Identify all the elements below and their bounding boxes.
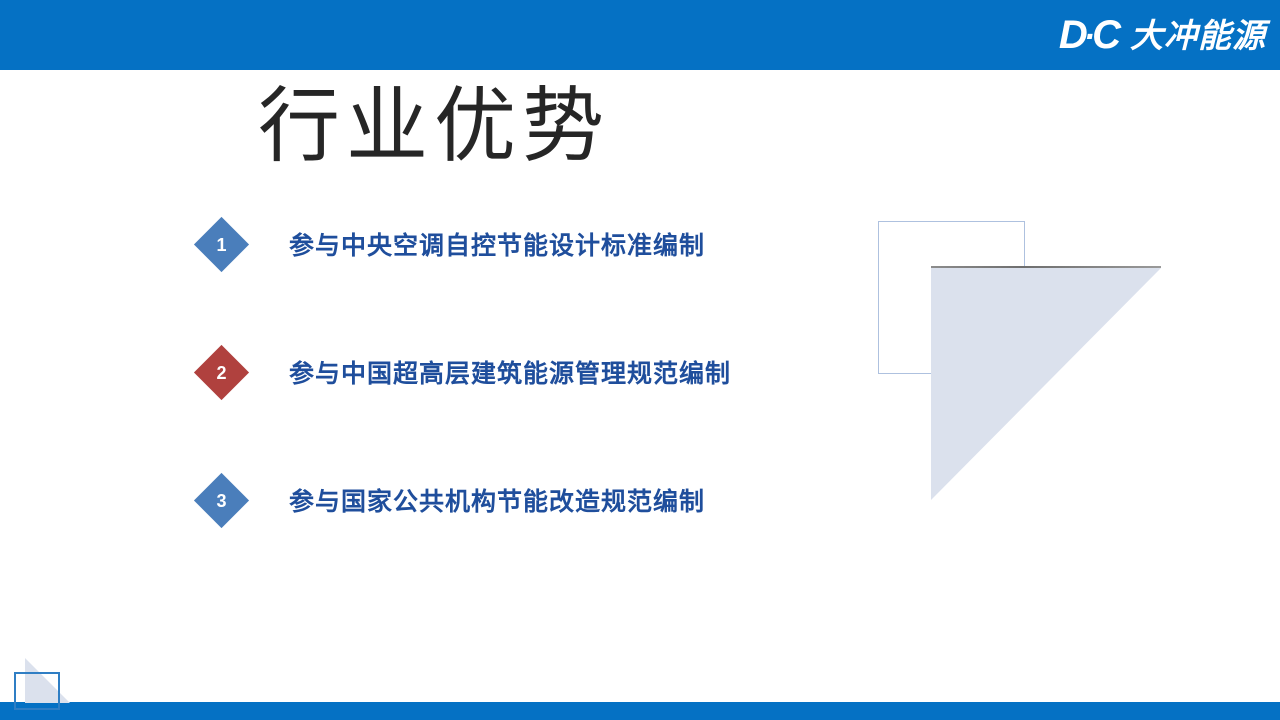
- bullet-diamond-3: 3: [194, 472, 249, 527]
- company-logo: D·C 大冲能源: [1059, 12, 1266, 58]
- bullet-text-3: 参与国家公共机构节能改造规范编制: [289, 482, 705, 518]
- bullet-number-3: 3: [202, 481, 241, 520]
- bullet-number-2: 2: [202, 353, 241, 392]
- bullet-diamond-2: 2: [194, 344, 249, 399]
- decorative-triangle-fill: [931, 268, 1161, 500]
- bullet-number-1: 1: [202, 225, 241, 264]
- logo-company-name: 大冲能源: [1130, 19, 1266, 52]
- advantage-list: 1 参与中央空调自控节能设计标准编制 2 参与中国超高层建筑能源管理规范编制 3…: [196, 212, 896, 596]
- bullet-diamond-1: 1: [194, 216, 249, 271]
- logo-letter-c: C: [1092, 13, 1120, 57]
- bullet-text-2: 参与中国超高层建筑能源管理规范编制: [289, 354, 731, 390]
- page-title: 行业优势: [258, 82, 610, 172]
- logo-mark-dc: D·C: [1059, 15, 1120, 55]
- decorative-triangle: [931, 266, 1161, 500]
- list-item: 3 参与国家公共机构节能改造规范编制: [196, 468, 896, 532]
- logo-letter-d: D: [1059, 13, 1087, 57]
- bullet-text-1: 参与中央空调自控节能设计标准编制: [289, 226, 705, 262]
- presentation-slide: D·C 大冲能源 行业优势 1 参与中央空调自控节能设计标准编制 2 参与中国超…: [0, 0, 1280, 720]
- footer-bar: [0, 702, 1280, 720]
- decorative-small-square-outline: [14, 672, 60, 710]
- decorative-triangle-edge: [931, 266, 1161, 268]
- header-bar: D·C 大冲能源: [0, 0, 1280, 70]
- list-item: 2 参与中国超高层建筑能源管理规范编制: [196, 340, 896, 404]
- list-item: 1 参与中央空调自控节能设计标准编制: [196, 212, 896, 276]
